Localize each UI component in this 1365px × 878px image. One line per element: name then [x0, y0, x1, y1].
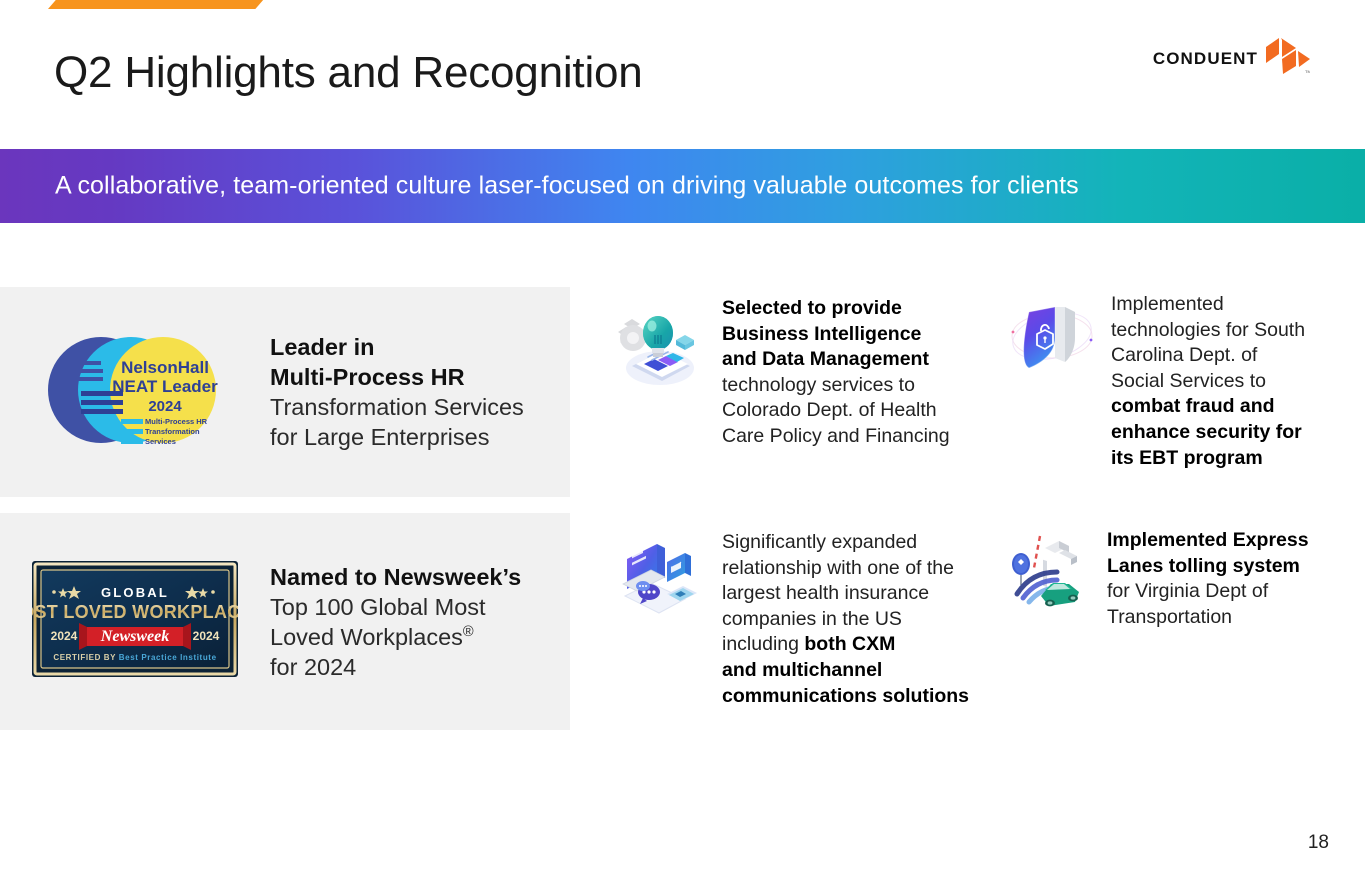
highlight-ebt-security: Implemented technologies for South Carol…: [1005, 292, 1355, 471]
conduent-logo: CONDUENT TM: [1153, 38, 1310, 79]
hl-bold-3: and Data Management: [722, 348, 929, 370]
hl-regular-3: largest health insurance: [722, 582, 929, 604]
badge-sub1: Multi-Process HR: [145, 417, 208, 426]
highlight-express-lanes-tolling: Implemented Express Lanes tolling system…: [1005, 528, 1355, 630]
hl-bold-2: Business Intelligence: [722, 323, 921, 345]
highlight-text-business-intelligence: Selected to provide Business Intelligenc…: [722, 296, 992, 450]
badge-year-left: 2024: [51, 629, 78, 643]
newsweek-most-loved-workplaces-badge-icon: GLOBAL MOST LOVED WORKPLACES 2024 2024 N…: [32, 561, 238, 682]
svg-text:TM: TM: [1305, 69, 1310, 74]
award-text-nelsonhall: Leader in Multi-Process HR Transformatio…: [270, 332, 570, 452]
badge-brand: Newsweek: [100, 628, 169, 645]
highlight-business-intelligence: Selected to provide Business Intelligenc…: [612, 296, 1002, 450]
logo-wordmark: CONDUENT: [1153, 50, 1258, 67]
award-card-nelsonhall: NelsonHall NEAT Leader 2024 Multi-Proces…: [0, 287, 570, 497]
hl-bold-1: combat fraud and: [1111, 395, 1275, 417]
hl-regular-2: relationship with one of the: [722, 557, 954, 579]
badge-certified: CERTIFIED BY Best Practice Institute: [53, 653, 216, 662]
hl-regular-4: companies in the US: [722, 608, 902, 630]
hl-bold-3: communications solutions: [722, 685, 969, 707]
award-bold-line-2: Multi-Process HR: [270, 364, 465, 390]
hl-regular-1: Implemented: [1111, 293, 1224, 315]
badge-line2: NEAT Leader: [112, 377, 218, 396]
hl-regular-2: Colorado Dept. of Health: [722, 399, 937, 421]
badge-line1: NelsonHall: [121, 358, 209, 377]
badge-sub3: Services: [145, 437, 176, 446]
badge-year-right: 2024: [193, 629, 220, 643]
hl-bold-1: Implemented Express: [1107, 529, 1309, 551]
hl-bold-2: enhance security for: [1111, 421, 1302, 443]
nelsonhall-neat-leader-badge-icon: NelsonHall NEAT Leader 2024 Multi-Proces…: [35, 315, 235, 470]
shield-lock-icon: [1005, 296, 1099, 382]
hl-bold-3: its EBT program: [1111, 447, 1263, 469]
highlight-text-express-lanes-tolling: Implemented Express Lanes tolling system…: [1107, 528, 1322, 630]
hl-regular-3: Carolina Dept. of: [1111, 344, 1257, 366]
orange-accent-bar: [48, 0, 264, 9]
hl-bold-2: and multichannel: [722, 659, 882, 681]
hl-bold-1: both CXM: [804, 633, 895, 655]
highlight-text-ebt-security: Implemented technologies for South Carol…: [1111, 292, 1326, 471]
newsweek-badge-wrap: GLOBAL MOST LOVED WORKPLACES 2024 2024 N…: [0, 561, 270, 682]
hl-regular-1: technology services to: [722, 374, 915, 396]
award-card-newsweek: GLOBAL MOST LOVED WORKPLACES 2024 2024 N…: [0, 513, 570, 730]
award-regular-line-1: Top 100 Global Most: [270, 594, 486, 620]
badge-sub2: Transformation: [145, 427, 200, 436]
hl-regular-4: Social Services to: [1111, 370, 1266, 392]
tolling-vehicle-icon: [1005, 532, 1095, 612]
banner-text: A collaborative, team-oriented culture l…: [55, 172, 1079, 201]
award-regular-line-2: Loved Workplaces: [270, 624, 463, 650]
hl-bold-1: Selected to provide: [722, 297, 902, 319]
badge-headline: MOST LOVED WORKPLACES: [32, 602, 238, 622]
badge-global: GLOBAL: [101, 585, 169, 600]
award-superscript: ®: [463, 624, 474, 640]
data-insights-dashboard-icon: [612, 302, 708, 388]
hl-regular-1: for Virginia Dept of: [1107, 580, 1268, 602]
page-number: 18: [1308, 832, 1329, 854]
award-bold-line-1: Named to Newsweek’s: [270, 564, 521, 590]
highlight-text-cxm-multichannel: Significantly expanded relationship with…: [722, 530, 1007, 709]
badge-year: 2024: [148, 398, 182, 415]
hl-regular-3: Care Policy and Financing: [722, 425, 950, 447]
hl-regular-2: Transportation: [1107, 606, 1232, 628]
award-bold-line-1: Leader in: [270, 334, 374, 360]
award-regular-line-1: Transformation Services: [270, 394, 524, 420]
subtitle-banner: A collaborative, team-oriented culture l…: [0, 149, 1365, 223]
award-regular-line-3: for 2024: [270, 654, 356, 680]
slide-root: Q2 Highlights and Recognition CONDUENT T…: [0, 0, 1365, 878]
hl-regular-2: technologies for South: [1111, 319, 1305, 341]
award-text-newsweek: Named to Newsweek’s Top 100 Global Most …: [270, 562, 570, 682]
hl-regular-5: including: [722, 633, 804, 655]
page-title: Q2 Highlights and Recognition: [54, 45, 643, 101]
award-regular-line-2: for Large Enterprises: [270, 424, 489, 450]
hl-regular-1: Significantly expanded: [722, 531, 917, 553]
conduent-chevron-mark-icon: TM: [1266, 38, 1310, 79]
hl-bold-2: Lanes tolling system: [1107, 555, 1300, 577]
highlight-cxm-multichannel: Significantly expanded relationship with…: [612, 530, 1012, 709]
multichannel-communications-icon: [612, 534, 708, 620]
nelsonhall-badge-wrap: NelsonHall NEAT Leader 2024 Multi-Proces…: [0, 315, 270, 470]
